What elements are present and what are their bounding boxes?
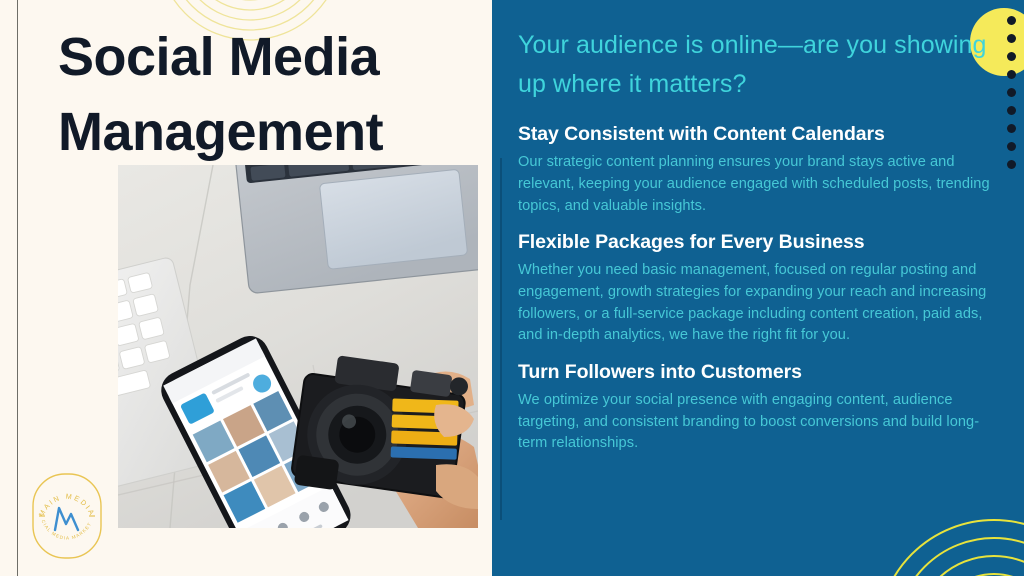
dot-icon — [1007, 88, 1016, 97]
dot-icon — [1007, 52, 1016, 61]
section-body: Whether you need basic management, focus… — [518, 260, 996, 346]
dot-icon — [1007, 160, 1016, 169]
title-line-1: Social Media — [58, 20, 478, 95]
section-heading: Stay Consistent with Content Calendars — [518, 122, 996, 147]
dot-icon — [1007, 34, 1016, 43]
content-section: Turn Followers into Customers We optimiz… — [518, 360, 996, 455]
section-heading: Flexible Packages for Every Business — [518, 230, 996, 255]
right-text-content: Your audience is online—are you showing … — [518, 26, 996, 468]
dot-column-decoration — [1007, 16, 1016, 169]
dot-icon — [1007, 124, 1016, 133]
kicker-headline: Your audience is online—are you showing … — [518, 26, 996, 104]
flatlay-photo — [118, 165, 478, 528]
left-panel: Social Media Management — [0, 0, 492, 576]
section-heading: Turn Followers into Customers — [518, 360, 996, 385]
dot-icon — [1007, 70, 1016, 79]
title-line-2: Management — [58, 95, 478, 170]
dot-icon — [1007, 142, 1016, 151]
content-section: Flexible Packages for Every Business Whe… — [518, 230, 996, 347]
content-section: Stay Consistent with Content Calendars O… — [518, 122, 996, 217]
brand-badge-logo: MAIN MEDIA SOCIAL MEDIA MARKETING — [28, 468, 106, 564]
slide-canvas: Social Media Management — [0, 0, 1024, 576]
right-inner-vertical-rule — [500, 158, 502, 520]
mountain-wave-mark-icon — [55, 508, 78, 530]
section-body: Our strategic content planning ensures y… — [518, 152, 996, 217]
right-content-panel: Your audience is online—are you showing … — [492, 0, 1024, 576]
dot-icon — [1007, 106, 1016, 115]
page-title: Social Media Management — [58, 20, 478, 169]
left-vertical-rule — [17, 0, 18, 576]
badge-top-text: MAIN MEDIA — [37, 492, 98, 519]
flatlay-photo-illustration — [118, 165, 478, 528]
dot-icon — [1007, 16, 1016, 25]
svg-text:MAIN MEDIA: MAIN MEDIA — [37, 492, 98, 519]
brand-badge-illustration: MAIN MEDIA SOCIAL MEDIA MARKETING — [28, 468, 106, 564]
section-body: We optimize your social presence with en… — [518, 390, 996, 455]
